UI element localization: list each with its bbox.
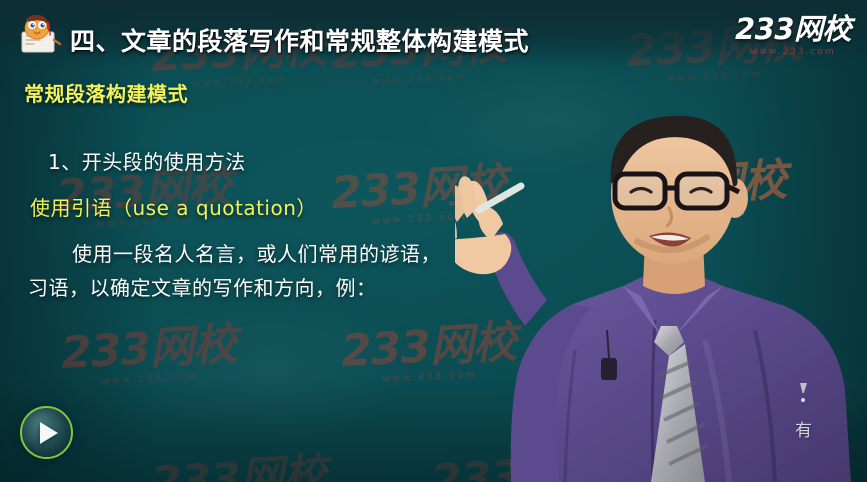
mascot-icon	[17, 10, 63, 56]
watermark-url: www.233.com	[620, 366, 795, 385]
watermark: 233网校www.233.com	[60, 323, 238, 389]
video-player[interactable]: 233网校www.233.com233网校www.233.com233网校www…	[0, 0, 867, 482]
watermark-url: www.233.com	[332, 210, 507, 229]
watermark-text: 233网校	[430, 451, 607, 482]
board-mark-dot	[801, 398, 805, 402]
watermark-url: www.233.com	[627, 68, 802, 87]
watermark-text: 233网校	[330, 163, 507, 216]
watermark-text: 233网校	[150, 453, 327, 482]
watermark-text: 233网校	[340, 321, 517, 374]
brand-logo: 233网校 www.233.com	[735, 6, 851, 57]
board-mark-tick	[800, 383, 807, 393]
slide-title: 四、文章的段落写作和常规整体构建模式	[70, 22, 529, 58]
chalk-smudge	[420, 60, 680, 180]
watermark-url: www.233.com	[332, 70, 507, 89]
chalk-smudge	[640, 330, 867, 460]
slide-body-line-1: 1、开头段的使用方法	[48, 146, 246, 175]
watermark: 233网校www.233.com	[330, 163, 508, 229]
watermark: 233网校www.233.com	[610, 159, 788, 225]
slide-body-line-3: 使用一段名人名言，或人们常用的谚语，	[72, 238, 441, 267]
watermark-text: 233网校	[610, 159, 787, 212]
watermark: 233网校www.233.com	[618, 319, 796, 385]
watermark: 233网校www.233.com	[430, 451, 608, 482]
watermark-text: 233网校	[60, 323, 237, 376]
watermark-text: 233网校	[618, 319, 795, 372]
watermark-url: www.233.com	[342, 368, 517, 387]
play-button[interactable]	[20, 406, 73, 459]
board-scrap-text: 有	[795, 416, 812, 441]
watermark-text: 233网校	[625, 21, 802, 74]
brand-logo-url: www.233.com	[735, 47, 851, 57]
slide-subtitle: 常规段落构建模式	[24, 78, 188, 107]
brand-logo-text: 233网校	[735, 6, 851, 48]
watermark-url: www.233.com	[62, 370, 237, 389]
slide-body-line-2: 使用引语（use a quotation）	[30, 192, 317, 221]
watermark: 233网校www.233.com	[625, 21, 803, 87]
slide-body-line-4: 习语，以确定文章的写作和方向，例：	[28, 272, 377, 301]
play-icon	[40, 422, 58, 444]
chalk-smudge	[120, 300, 420, 440]
watermark-url: www.233.com	[612, 206, 787, 225]
watermark: 233网校www.233.com	[150, 453, 328, 482]
watermark: 233网校www.233.com	[340, 321, 518, 387]
